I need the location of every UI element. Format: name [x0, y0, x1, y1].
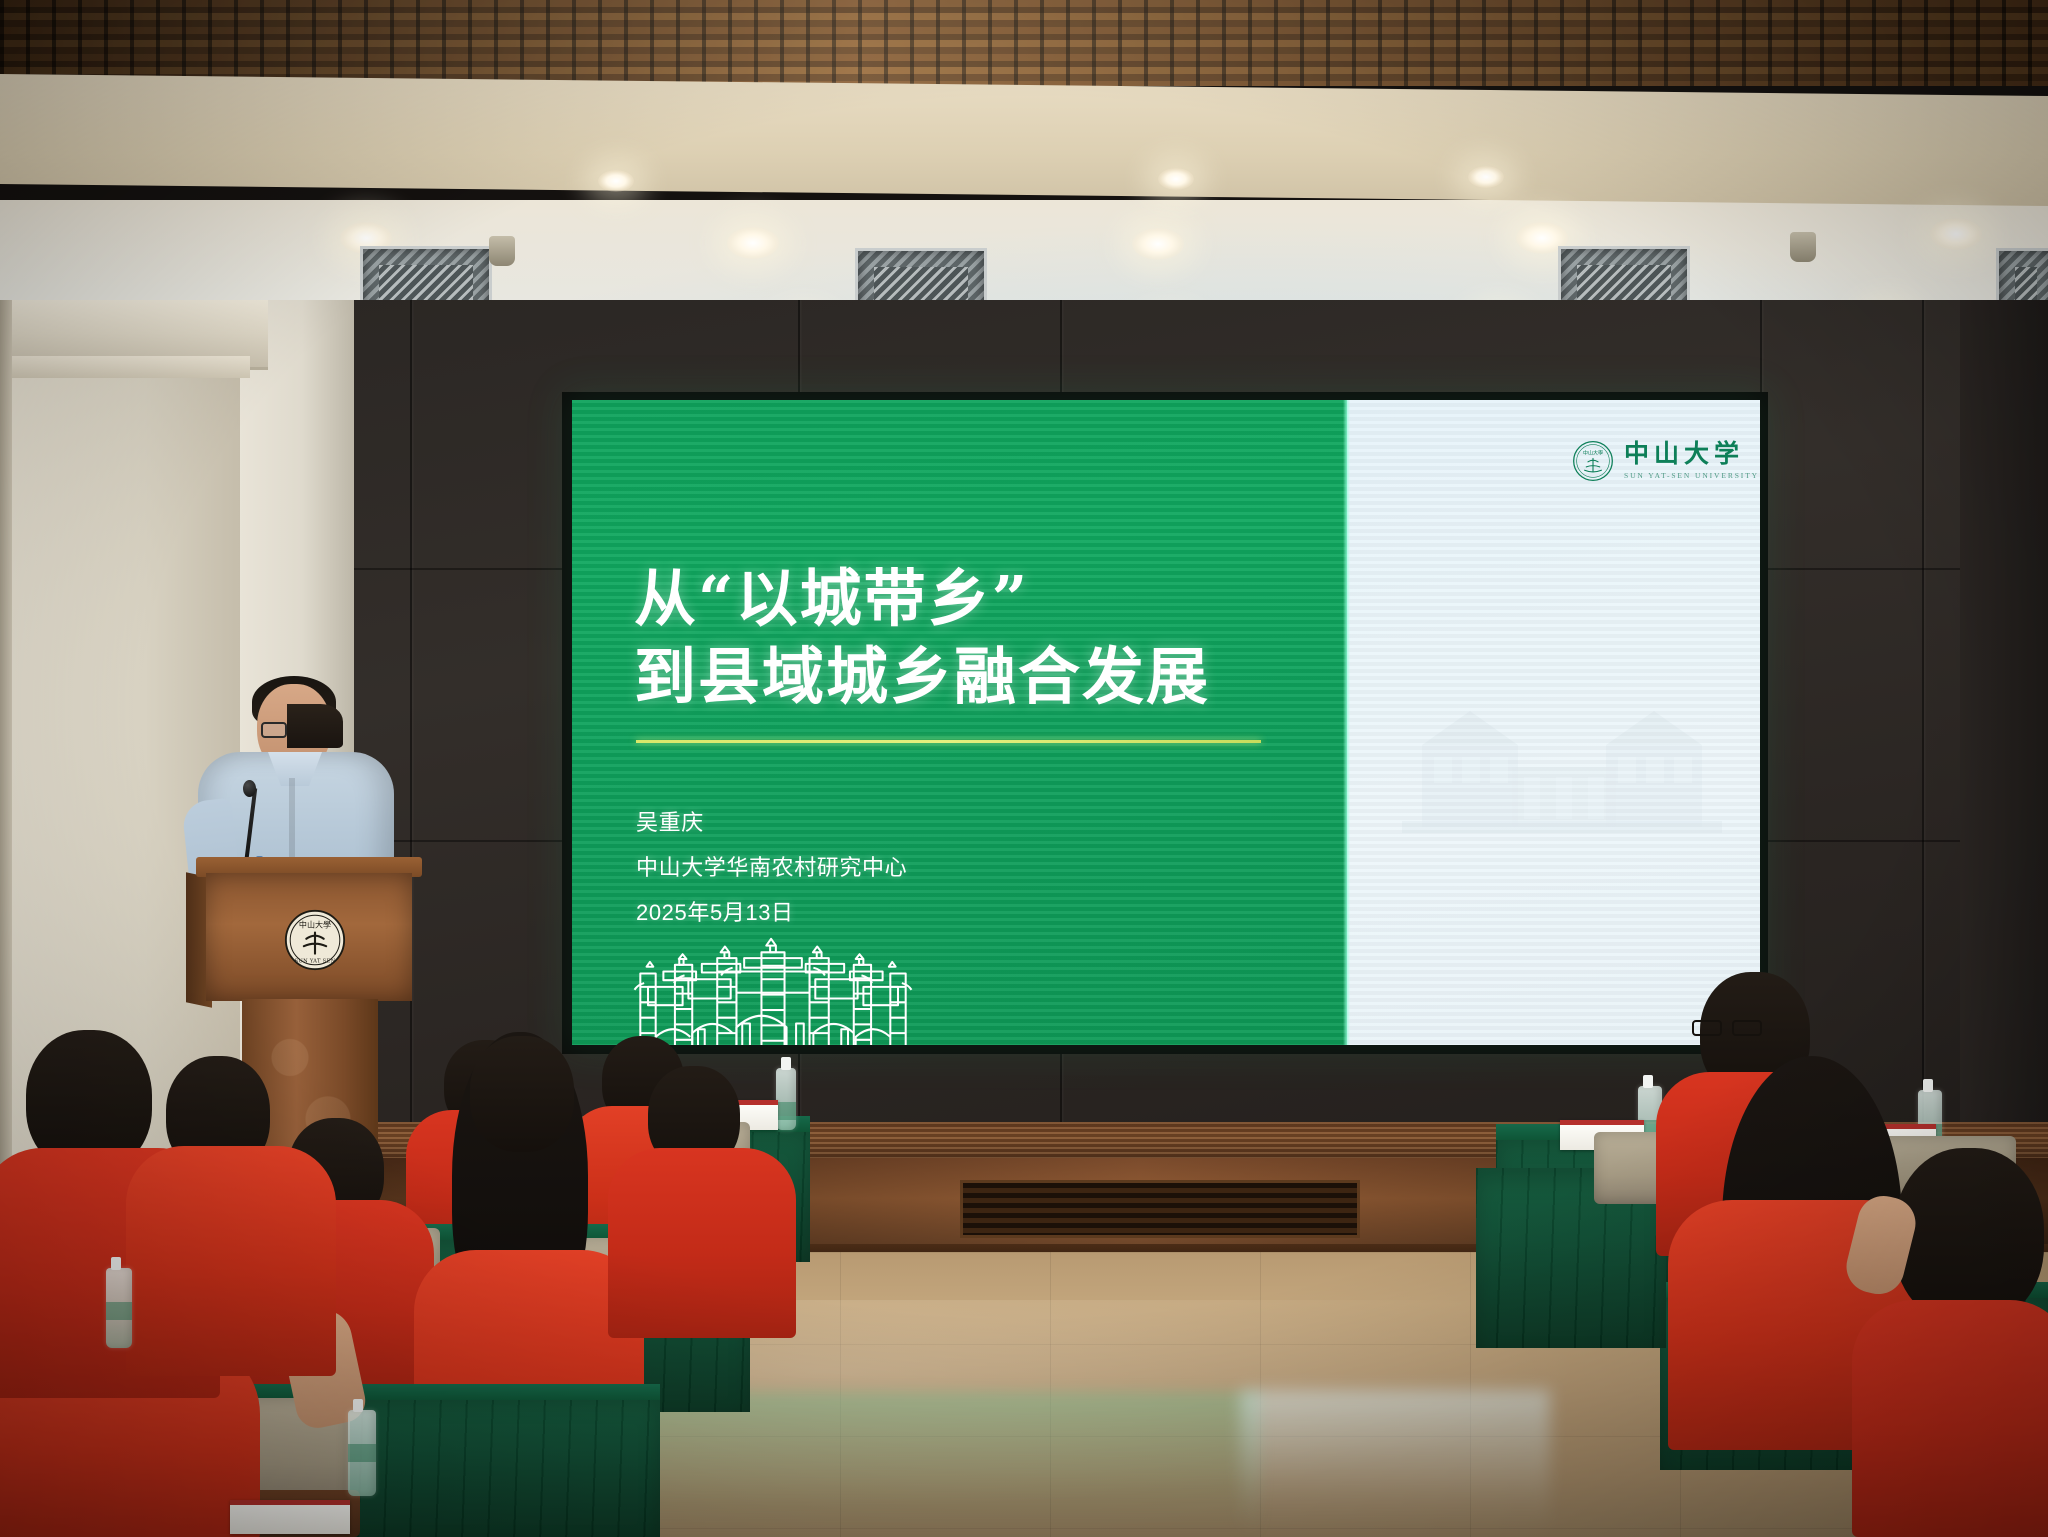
ceiling-downlight — [598, 170, 634, 192]
name-card — [230, 1500, 350, 1534]
smoke-detector-icon — [1790, 232, 1816, 262]
microphone-icon — [243, 780, 256, 797]
stage-louver-vent-icon — [960, 1180, 1360, 1238]
water-bottle — [348, 1410, 376, 1496]
slide-author: 吴重庆 — [636, 800, 907, 845]
sysu-logo-cn: 中山大学 — [1624, 442, 1759, 467]
audience-torso — [1852, 1300, 2048, 1537]
sysu-seal-icon: 中山大學 — [1572, 440, 1614, 482]
lectern-sysu-emblem: 中山大學 SUN YAT SEN — [284, 909, 346, 971]
sysu-logo-en: SUN YAT-SEN UNIVERSITY — [1624, 472, 1759, 480]
slide-affiliation: 中山大学华南农村研究中心 — [636, 845, 907, 890]
slide-date: 2025年5月13日 — [636, 890, 907, 935]
slide-title: 从“以城带乡” 到县域城乡融合发展 — [634, 560, 1324, 716]
svg-text:中山大學: 中山大學 — [299, 920, 331, 930]
floor-reflection-green — [640, 1392, 1260, 1537]
ceiling-wood-slat-trim — [0, 0, 2048, 86]
slide-title-underline — [636, 740, 1261, 743]
sysu-logo: 中山大學 中山大学 SUN YAT-SEN UNIVERSITY — [1572, 440, 1759, 482]
svg-text:SUN YAT SEN: SUN YAT SEN — [295, 958, 336, 964]
ceiling-downlight — [1930, 218, 1982, 250]
ceiling-downlight — [1132, 228, 1184, 260]
audience-glasses-icon — [1692, 1020, 1762, 1036]
ceiling-downlight — [1158, 168, 1194, 190]
floor-reflection-white — [1240, 1390, 1550, 1537]
audience-head — [1894, 1148, 2044, 1324]
svg-text:中山大學: 中山大學 — [1583, 449, 1603, 456]
ceiling-downlight — [1468, 166, 1504, 188]
smoke-detector-icon — [489, 236, 515, 266]
slide-panel-divider — [1343, 400, 1350, 1045]
pilaster-capital-lower — [0, 356, 250, 378]
lecture-hall-photo: 中山大學 中山大学 SUN YAT-SEN UNIVERSITY 从“以城带乡”… — [0, 0, 2048, 1537]
ceiling-downlight — [727, 227, 779, 259]
audience-torso — [608, 1148, 796, 1338]
slide-title-line-1: 从“以城带乡” — [634, 560, 1324, 638]
back-wall-right-edge — [1960, 300, 2048, 1180]
slide-meta-block: 吴重庆 中山大学华南农村研究中心 2025年5月13日 — [636, 800, 907, 935]
audience-torso — [126, 1146, 336, 1376]
ceiling-soffit — [0, 74, 2048, 206]
audience-head — [470, 1036, 574, 1152]
speaker-hair-side — [287, 704, 343, 748]
water-bottle — [106, 1268, 132, 1348]
water-bottle — [776, 1068, 796, 1130]
slide-title-line-2: 到县域城乡融合发展 — [634, 638, 1324, 716]
campus-building-watermark — [1362, 615, 1760, 865]
presentation-slide: 中山大學 中山大学 SUN YAT-SEN UNIVERSITY 从“以城带乡”… — [572, 400, 1760, 1045]
memorial-gate-illustration — [628, 935, 918, 1045]
